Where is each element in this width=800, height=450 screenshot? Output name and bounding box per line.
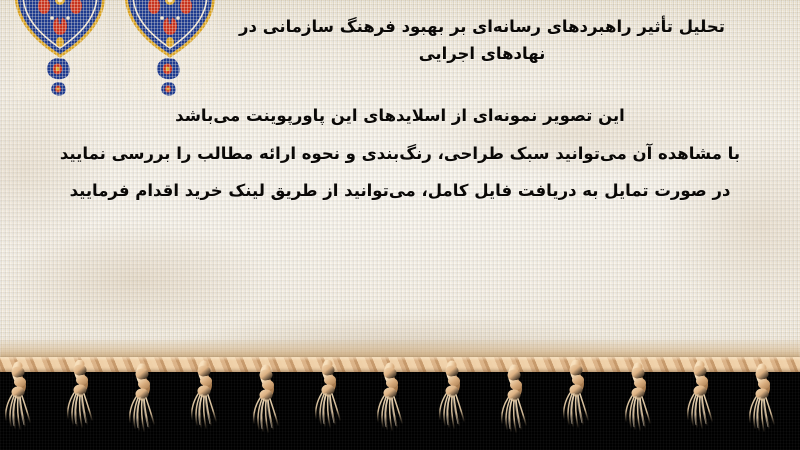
body-line-1: این تصویر نمونه‌ای از اسلایدهای این پاور… bbox=[16, 108, 784, 125]
slide-canvas: تحلیل تأثیر راهبردهای رسانه‌ای بر بهبود … bbox=[0, 0, 800, 450]
body-line-2: با مشاهده آن می‌توانید سبک طراحی، رنگ‌بن… bbox=[16, 146, 784, 163]
slide-title-line-1: تحلیل تأثیر راهبردهای رسانه‌ای بر بهبود … bbox=[239, 17, 725, 36]
carpet-tassels bbox=[0, 360, 800, 450]
slide-body: این تصویر نمونه‌ای از اسلایدهای این پاور… bbox=[16, 108, 784, 200]
slide-title: تحلیل تأثیر راهبردهای رسانه‌ای بر بهبود … bbox=[180, 14, 784, 67]
body-line-3: در صورت تمایل به دریافت فایل کامل، می‌تو… bbox=[16, 183, 784, 200]
carpet-medallion-ornament-left bbox=[14, 0, 106, 100]
slide-title-line-2: نهادهای اجرایی bbox=[180, 41, 784, 68]
